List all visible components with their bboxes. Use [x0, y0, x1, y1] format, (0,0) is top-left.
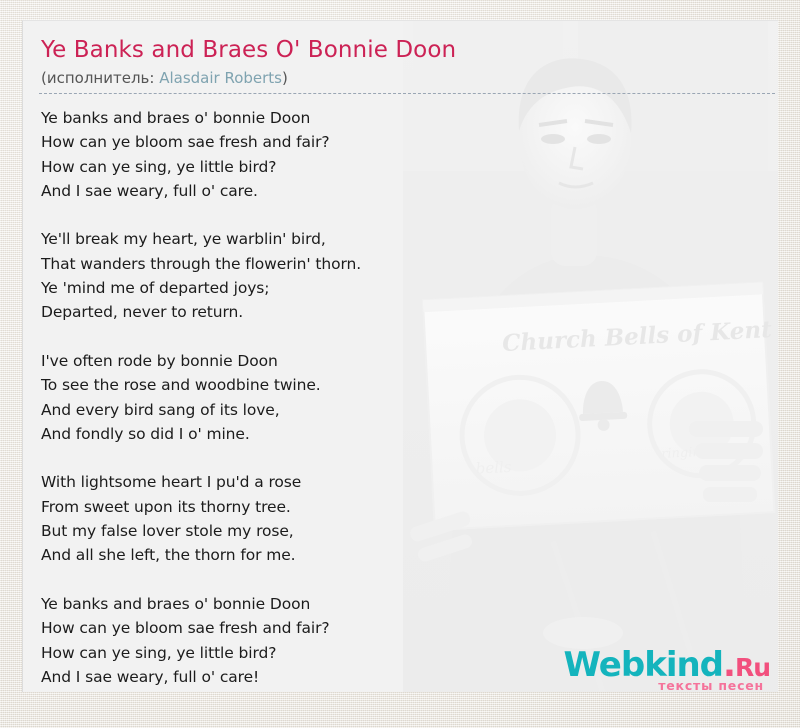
artist-suffix-label: ) [282, 69, 288, 87]
lyrics-text: Ye banks and braes o' bonnie Doon How ca… [39, 94, 762, 689]
artist-link[interactable]: Alasdair Roberts [159, 69, 282, 87]
site-logo[interactable]: Webkind.Ru тексты песен [564, 647, 770, 693]
card-inner-content: Ye Banks and Braes O' Bonnie Doon (испол… [23, 21, 778, 689]
lyrics-content-card: Church Bells of Kent bells ringing [22, 20, 778, 692]
page-title: Ye Banks and Braes O' Bonnie Doon [39, 35, 762, 65]
artist-prefix-label: (исполнитель: [41, 69, 159, 87]
artist-line: (исполнитель: Alasdair Roberts) [39, 65, 775, 94]
